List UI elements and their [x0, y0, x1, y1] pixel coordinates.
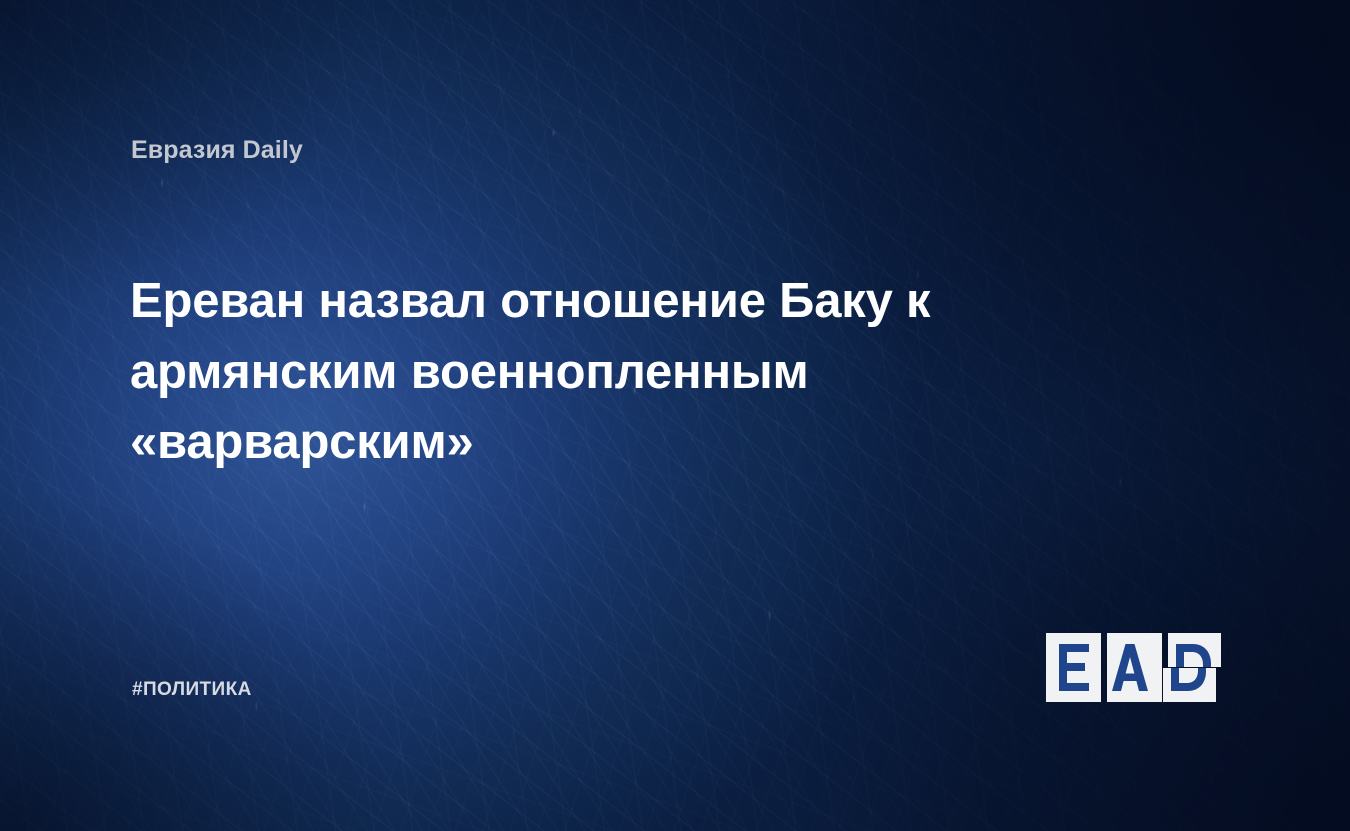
ead-logo [1046, 633, 1221, 702]
social-share-card: Евразия Daily Ереван назвал отношение Ба… [0, 0, 1350, 831]
publisher-brand: Евразия Daily [131, 136, 303, 165]
logo-glyph-e [1059, 644, 1089, 691]
article-headline: Ереван назвал отношение Баку к армянским… [130, 266, 1030, 478]
ead-logo-mark [1046, 633, 1221, 702]
card-content: Евразия Daily Ереван назвал отношение Ба… [0, 0, 1350, 831]
category-hashtag[interactable]: #ПОЛИТИКА [132, 679, 252, 701]
